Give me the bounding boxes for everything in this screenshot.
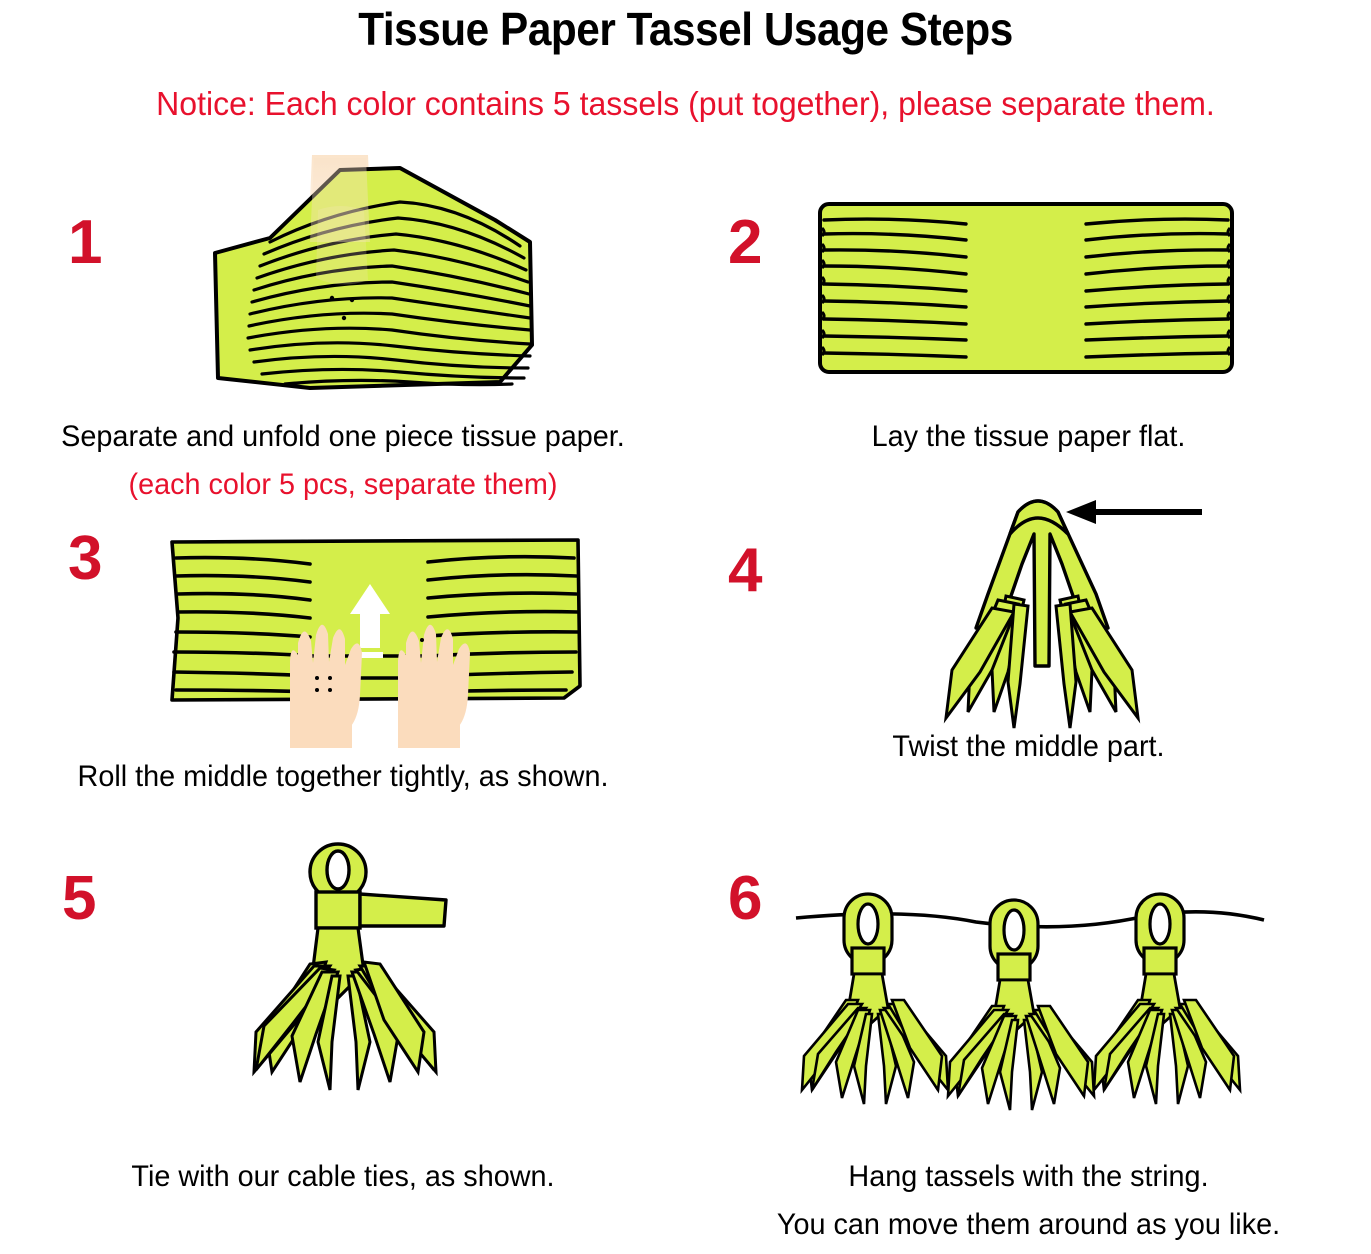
step-5-cell: 5 bbox=[0, 830, 686, 1230]
step-1-number: 1 bbox=[68, 212, 102, 274]
step-6-number: 6 bbox=[728, 868, 762, 930]
step-6-caption: Hang tassels with the string. bbox=[700, 1160, 1358, 1194]
step-1-cell: 1 bbox=[0, 150, 686, 480]
step-6-cell: 6 bbox=[686, 830, 1371, 1250]
step-4-caption: Twist the middle part. bbox=[700, 730, 1358, 764]
step-2-caption: Lay the tissue paper flat. bbox=[700, 420, 1358, 454]
step-3-cell: 3 bbox=[0, 510, 686, 810]
step-2-cell: 2 bbox=[686, 150, 1371, 480]
infographic-page: Tissue Paper Tassel Usage Steps Notice: … bbox=[0, 0, 1371, 1254]
step-1-caption: Separate and unfold one piece tissue pap… bbox=[14, 420, 673, 454]
step-4-illustration bbox=[846, 480, 1246, 750]
step-5-number: 5 bbox=[62, 868, 96, 930]
step-2-number: 2 bbox=[728, 212, 762, 274]
step-1-illustration bbox=[100, 150, 580, 410]
hanging-tassel bbox=[948, 900, 1094, 1110]
step-2-illustration bbox=[816, 200, 1236, 380]
page-title: Tissue Paper Tassel Usage Steps bbox=[55, 2, 1316, 56]
pointer-arrow-icon bbox=[974, 500, 1202, 524]
notice-text: Notice: Each color contains 5 tassels (p… bbox=[21, 85, 1351, 123]
step-4-cell: 4 bbox=[686, 480, 1371, 810]
step-3-number: 3 bbox=[68, 528, 102, 590]
hanging-tassel bbox=[802, 894, 948, 1104]
step-5-caption: Tie with our cable ties, as shown. bbox=[14, 1160, 673, 1194]
hanging-tassel bbox=[1094, 894, 1240, 1104]
step-1-subcaption: (each color 5 pcs, separate them) bbox=[14, 468, 673, 502]
step-5-illustration bbox=[190, 830, 530, 1130]
step-6-subcaption: You can move them around as you like. bbox=[700, 1208, 1358, 1242]
step-6-illustration bbox=[766, 870, 1266, 1140]
step-3-illustration bbox=[160, 528, 590, 758]
step-4-number: 4 bbox=[728, 540, 762, 602]
step-3-caption: Roll the middle together tightly, as sho… bbox=[14, 760, 673, 794]
